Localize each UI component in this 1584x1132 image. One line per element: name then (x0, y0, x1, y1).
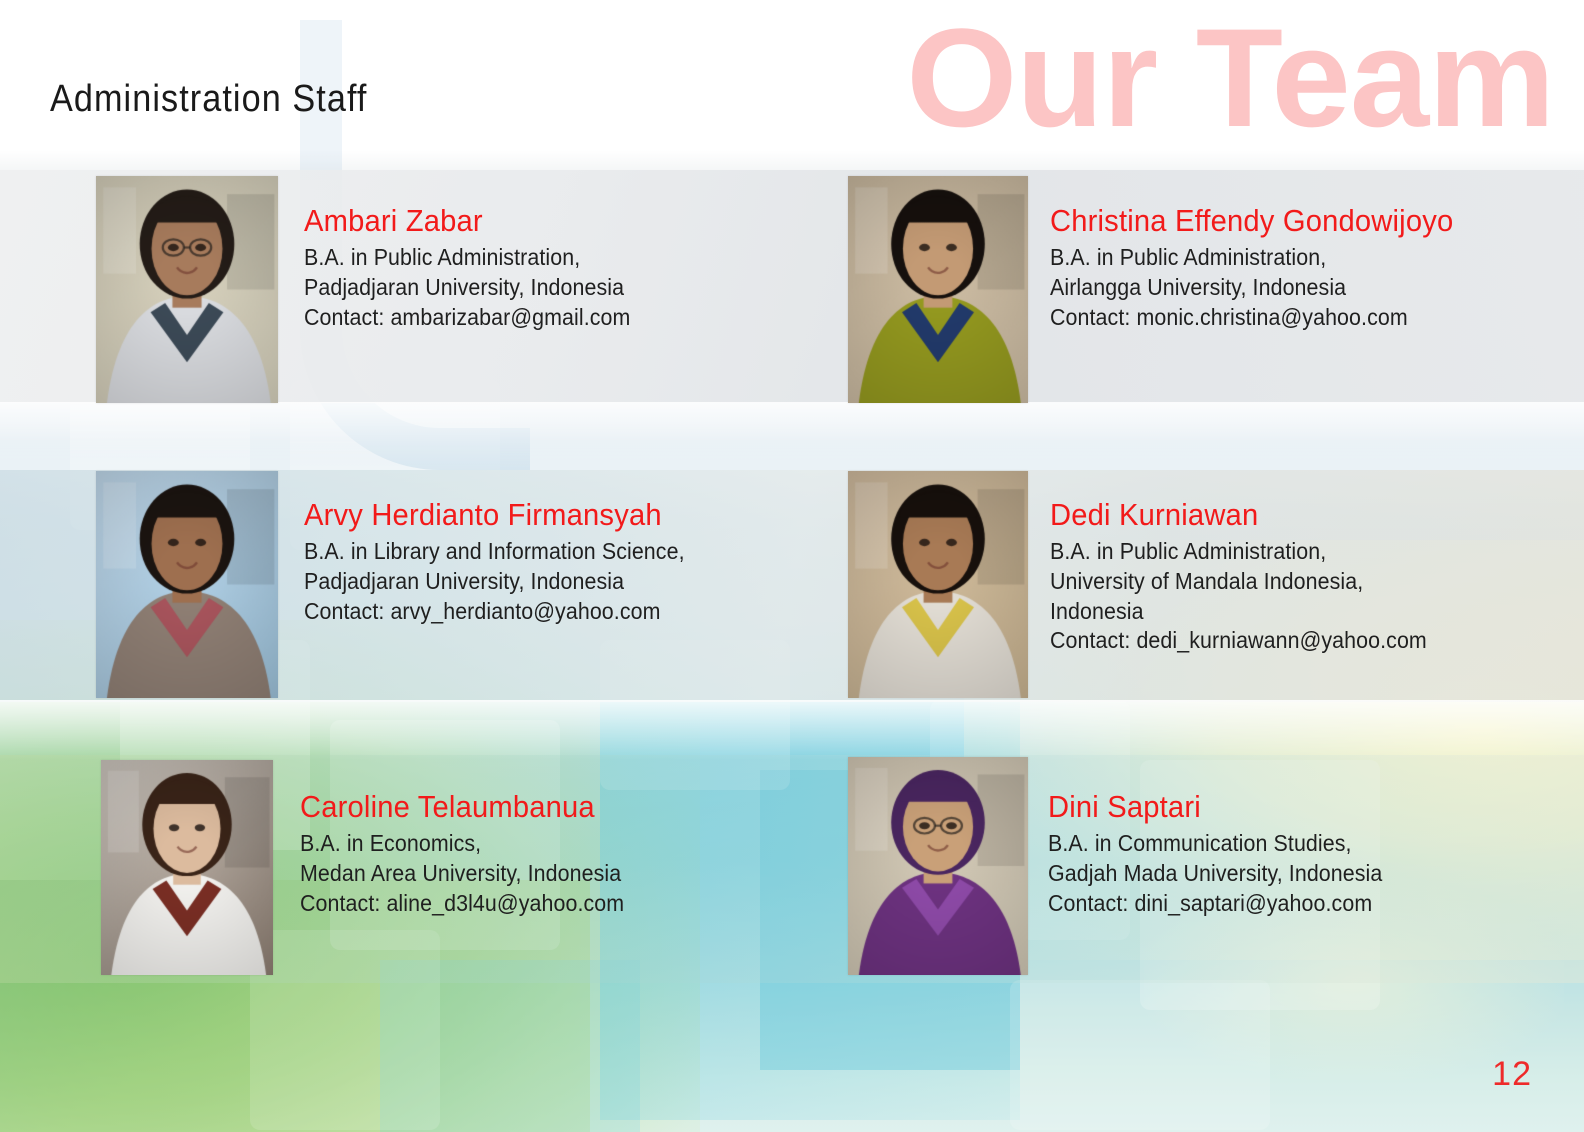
staff-info: Caroline Telaumbanua B.A. in Economics, … (300, 790, 649, 918)
avatar (101, 760, 273, 975)
staff-name: Caroline Telaumbanua (300, 790, 628, 825)
staff-degree: B.A. in Public Administration, (1050, 243, 1449, 273)
staff-name: Dedi Kurniawan (1050, 498, 1431, 533)
staff-university: Medan Area University, Indonesia (300, 859, 624, 889)
avatar (848, 757, 1028, 975)
staff-degree: B.A. in Public Administration, (1050, 537, 1427, 567)
staff-name: Arvy Herdianto Firmansyah (304, 498, 689, 533)
staff-name: Dini Saptari (1048, 790, 1386, 825)
staff-contact[interactable]: Contact: dedi_kurniawann@yahoo.com (1050, 626, 1427, 656)
staff-info: Ambari Zabar B.A. in Public Administrati… (304, 204, 655, 332)
staff-degree: B.A. in Library and Information Science, (304, 537, 685, 567)
staff-info: Dedi Kurniawan B.A. in Public Administra… (1050, 498, 1455, 656)
avatar (848, 471, 1028, 698)
page-number: 12 (1492, 1055, 1532, 1094)
staff-contact[interactable]: Contact: arvy_herdianto@yahoo.com (304, 597, 685, 627)
slide-heading: Our Team (906, 8, 1554, 148)
slide: Administration Staff Our Team Ambari Zab… (0, 0, 1584, 1132)
avatar (96, 176, 278, 403)
background-square (1010, 980, 1270, 1130)
staff-info: Dini Saptari B.A. in Communication Studi… (1048, 790, 1408, 918)
staff-name: Ambari Zabar (304, 204, 634, 239)
staff-info: Christina Effendy Gondowijoyo B.A. in Pu… (1050, 204, 1479, 332)
staff-university: Padjadjaran University, Indonesia (304, 567, 685, 597)
staff-info: Arvy Herdianto Firmansyah B.A. in Librar… (304, 498, 713, 626)
staff-university: University of Mandala Indonesia, (1050, 567, 1427, 597)
staff-contact[interactable]: Contact: monic.christina@yahoo.com (1050, 303, 1449, 333)
page-title: Administration Staff (50, 78, 368, 121)
staff-university: Gadjah Mada University, Indonesia (1048, 859, 1382, 889)
staff-contact[interactable]: Contact: dini_saptari@yahoo.com (1048, 889, 1382, 919)
staff-degree: B.A. in Public Administration, (304, 243, 630, 273)
staff-country: Indonesia (1050, 597, 1427, 627)
background-haze-streak (0, 402, 1584, 472)
staff-university: Airlangga University, Indonesia (1050, 273, 1449, 303)
staff-contact[interactable]: Contact: aline_d3l4u@yahoo.com (300, 889, 624, 919)
staff-university: Padjadjaran University, Indonesia (304, 273, 630, 303)
staff-degree: B.A. in Economics, (300, 829, 624, 859)
staff-name: Christina Effendy Gondowijoyo (1050, 204, 1453, 239)
avatar (96, 471, 278, 698)
avatar (848, 176, 1028, 403)
staff-degree: B.A. in Communication Studies, (1048, 829, 1382, 859)
staff-contact[interactable]: Contact: ambarizabar@gmail.com (304, 303, 630, 333)
background-haze-streak (0, 700, 1584, 760)
